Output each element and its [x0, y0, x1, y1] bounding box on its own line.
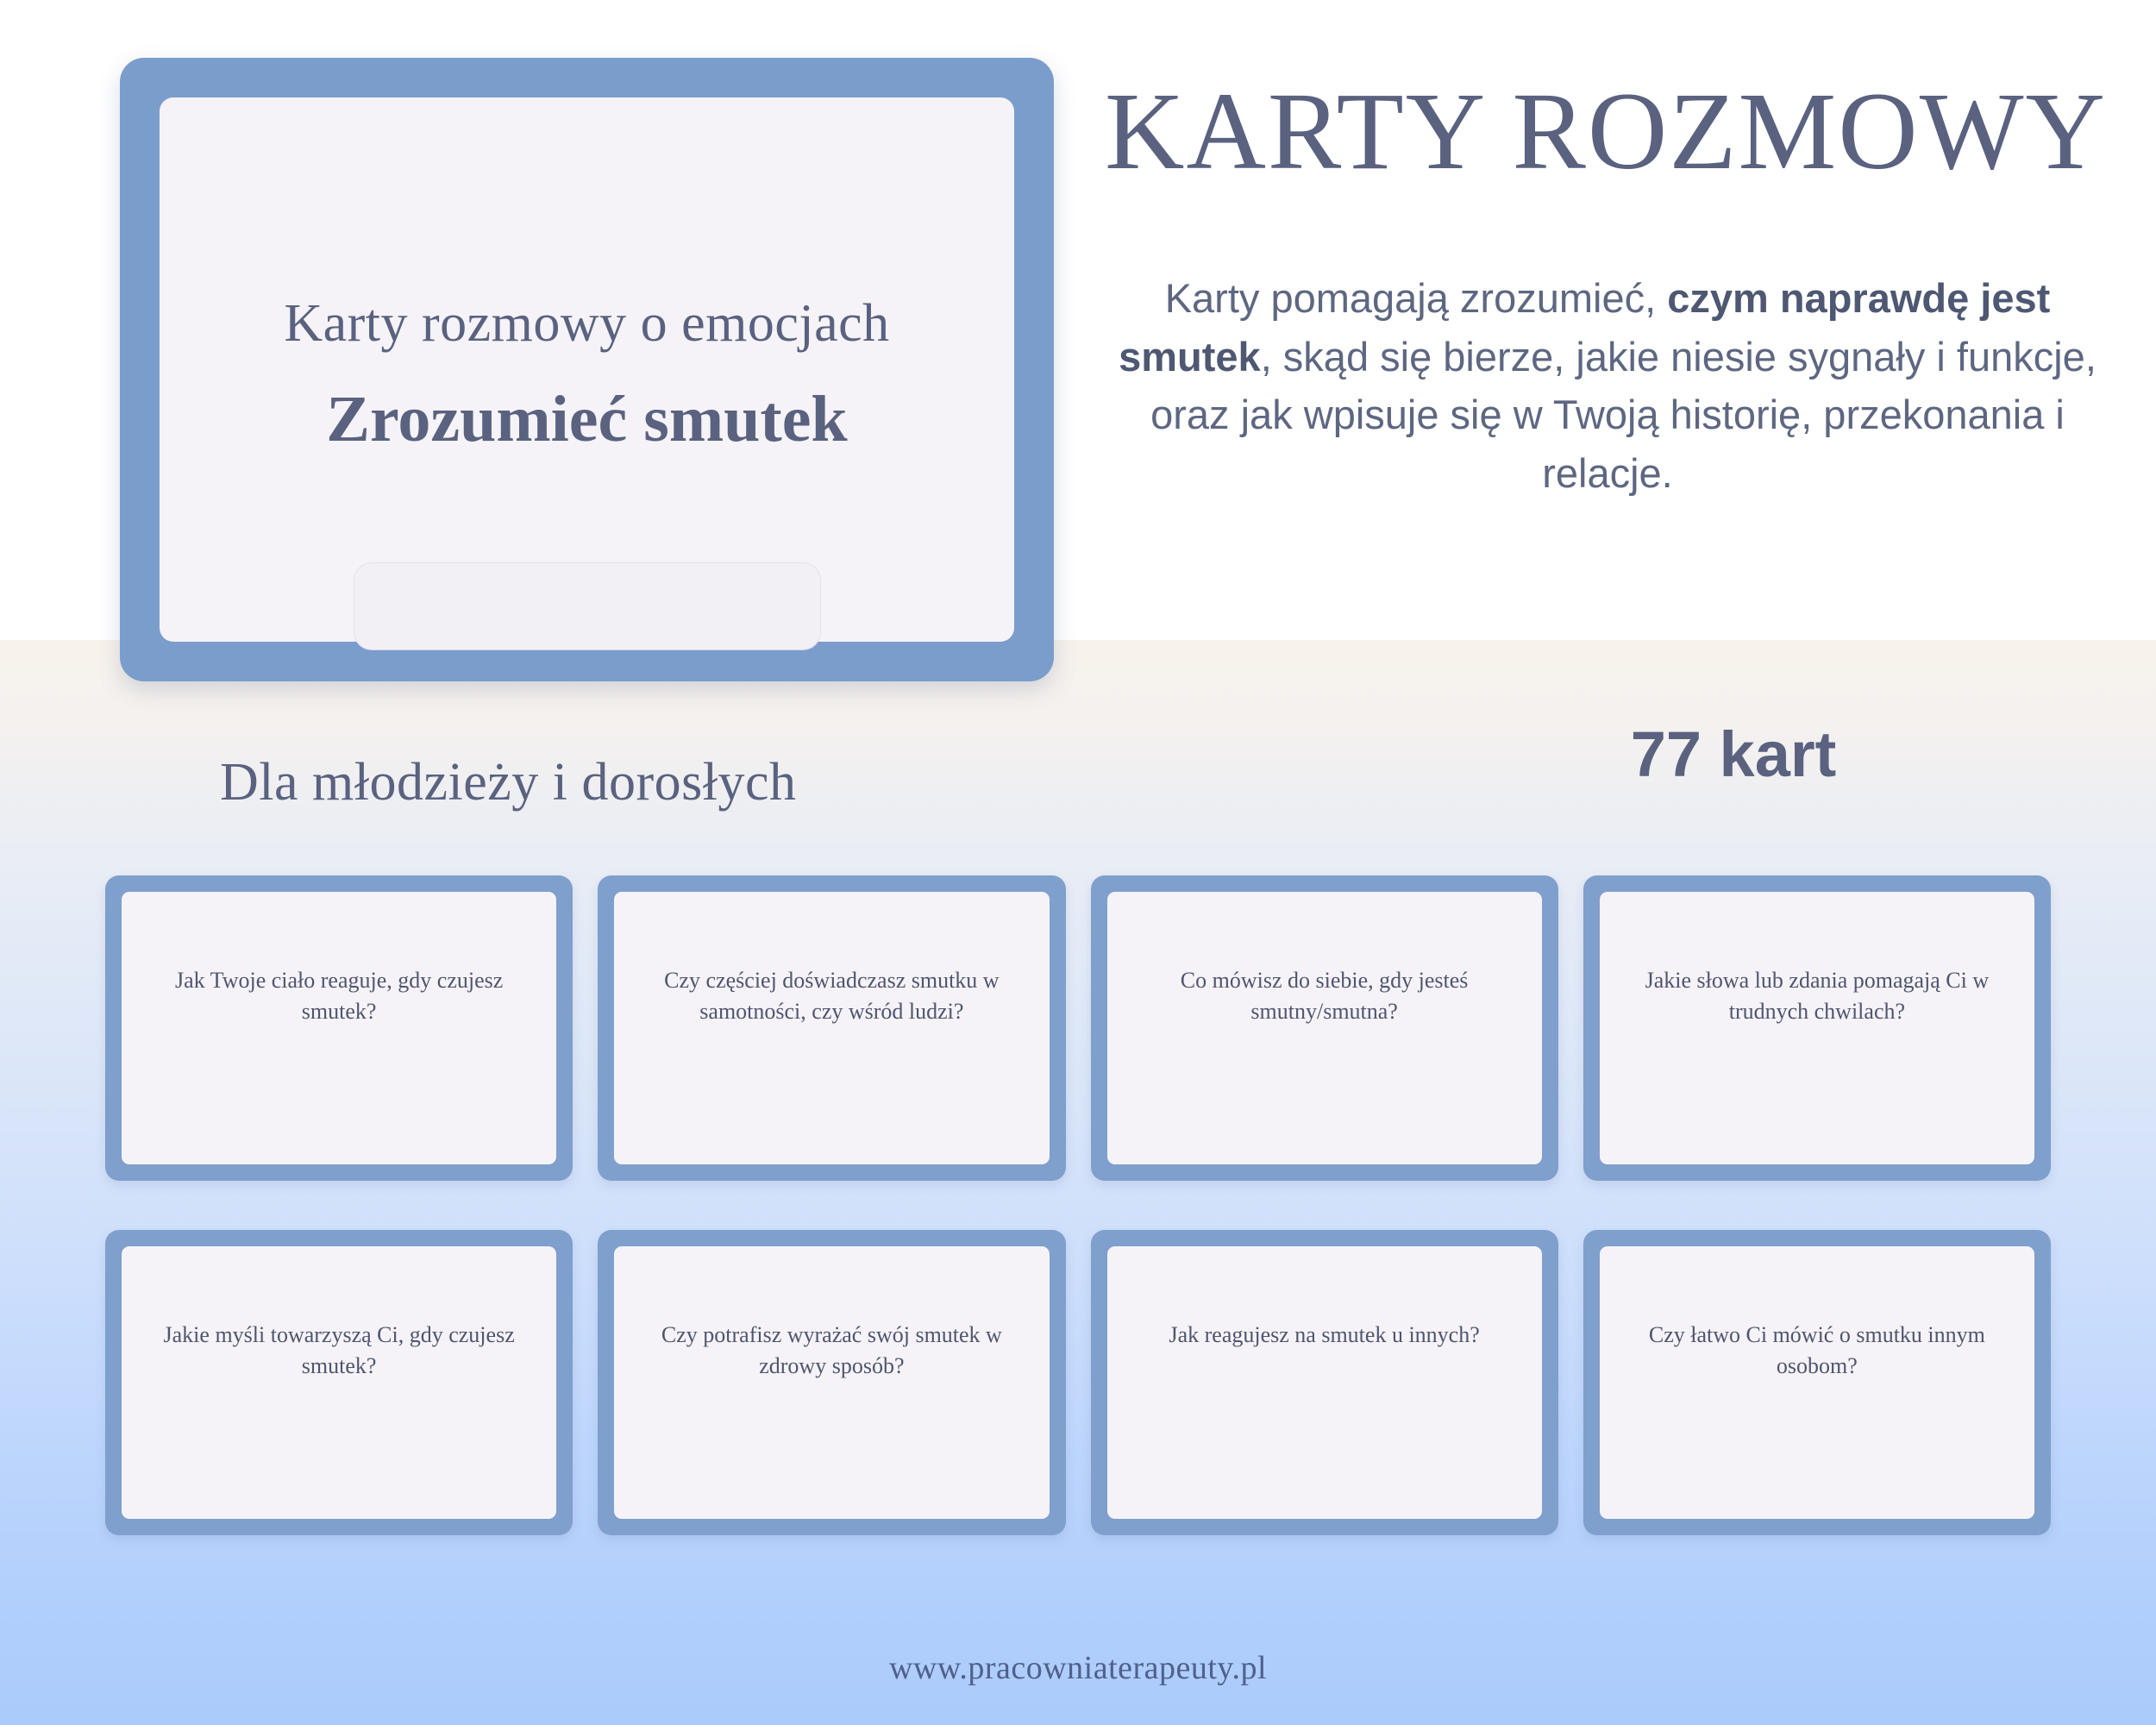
hero-deck-card: Karty rozmowy o emocjach Zrozumieć smute…: [120, 58, 1054, 681]
question-card-text: Czy łatwo Ci mówić o smutku innym osobom…: [1636, 1320, 1998, 1383]
page-description: Karty pomagają zrozumieć, czym naprawdę …: [1094, 269, 2122, 503]
question-card-face: Jakie słowa lub zdania pomagają Ci w tru…: [1600, 892, 2034, 1164]
question-card-face: Czy łatwo Ci mówić o smutku innym osobom…: [1600, 1246, 2034, 1519]
question-card-text: Jak Twoje ciało reaguje, gdy czujesz smu…: [158, 965, 520, 1028]
question-card-face: Czy częściej doświadczasz smutku w samot…: [614, 892, 1049, 1164]
question-card-face: Jak reagujesz na smutek u innych?: [1107, 1246, 1542, 1519]
card-count-badge: 77 kart: [1406, 718, 2061, 791]
hero-card-face: Karty rozmowy o emocjach Zrozumieć smute…: [160, 97, 1014, 642]
hero-card-placeholder-shape: [354, 563, 820, 649]
question-card-text: Co mówisz do siebie, gdy jesteś smutny/s…: [1144, 965, 1506, 1028]
poster-root: Karty rozmowy o emocjach Zrozumieć smute…: [0, 0, 2156, 1725]
question-card[interactable]: Jakie słowa lub zdania pomagają Ci w tru…: [1583, 875, 2051, 1181]
question-card-text: Jak reagujesz na smutek u innych?: [1169, 1320, 1479, 1351]
question-card[interactable]: Co mówisz do siebie, gdy jesteś smutny/s…: [1091, 875, 1558, 1181]
question-card-face: Co mówisz do siebie, gdy jesteś smutny/s…: [1107, 892, 1542, 1164]
question-card[interactable]: Czy częściej doświadczasz smutku w samot…: [598, 875, 1065, 1181]
question-card-text: Czy potrafisz wyrażać swój smutek w zdro…: [650, 1320, 1012, 1383]
question-card-text: Jakie słowa lub zdania pomagają Ci w tru…: [1636, 965, 1998, 1028]
hero-card-title: Zrozumieć smutek: [326, 384, 847, 456]
audience-heading: Dla młodzieży i dorosłych: [220, 752, 797, 813]
footer-website-link[interactable]: www.pracowniaterapeuty.pl: [0, 1649, 2156, 1687]
question-card[interactable]: Czy łatwo Ci mówić o smutku innym osobom…: [1583, 1230, 2051, 1535]
question-card-text: Jakie myśli towarzyszą Ci, gdy czujesz s…: [158, 1320, 520, 1383]
description-text-2: , skąd się bierze, jakie niesie sygnały …: [1150, 334, 2096, 496]
page-title: KARTY ROZMOWY: [1088, 76, 2123, 186]
card-grid: Jak Twoje ciało reaguje, gdy czujesz smu…: [105, 875, 2051, 1535]
question-card[interactable]: Jak Twoje ciało reaguje, gdy czujesz smu…: [105, 875, 573, 1181]
question-card[interactable]: Czy potrafisz wyrażać swój smutek w zdro…: [598, 1230, 1065, 1535]
question-card[interactable]: Jak reagujesz na smutek u innych?: [1091, 1230, 1558, 1535]
description-text-1: Karty pomagają zrozumieć,: [1165, 275, 1668, 321]
hero-card-subtitle: Karty rozmowy o emocjach: [284, 294, 889, 353]
question-card-text: Czy częściej doświadczasz smutku w samot…: [650, 965, 1012, 1028]
question-card-face: Czy potrafisz wyrażać swój smutek w zdro…: [614, 1246, 1049, 1519]
question-card-face: Jakie myśli towarzyszą Ci, gdy czujesz s…: [122, 1246, 556, 1519]
question-card-face: Jak Twoje ciało reaguje, gdy czujesz smu…: [122, 892, 556, 1164]
question-card[interactable]: Jakie myśli towarzyszą Ci, gdy czujesz s…: [105, 1230, 573, 1535]
